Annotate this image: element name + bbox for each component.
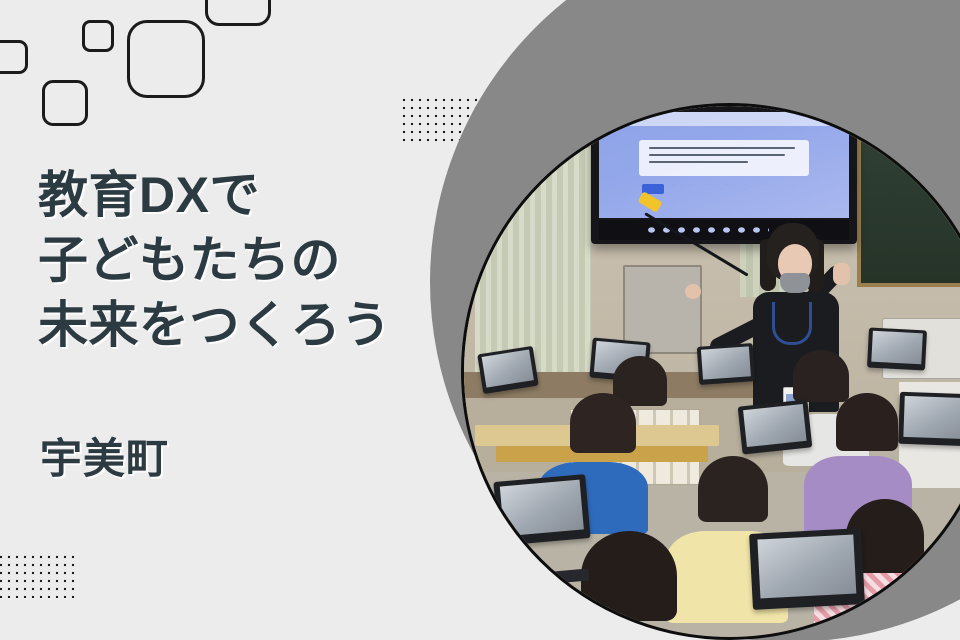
display-option-dots [664,178,784,185]
text-block: 教育DXで 子どもたちの 未来をつくろう 宇美町 [38,163,392,358]
classroom-photo [461,103,960,640]
student-head [793,350,849,402]
student-laptop [867,328,927,371]
foreground-laptop [493,474,590,546]
display-content-card [639,140,809,176]
teacher-left-hand [685,284,701,299]
student-laptop [899,391,960,446]
rounded-square-decoration [0,40,28,74]
student-head [570,393,636,453]
teacher-lanyard [772,302,812,345]
page-title: 教育DXで 子どもたちの 未来をつくろう [38,163,392,358]
student-laptop [738,400,813,455]
classroom-scene [464,106,960,637]
teacher-face-mask [780,273,810,293]
banner-root: 教育DXで 子どもたちの 未来をつくろう 宇美町 [0,0,960,640]
dot-grid-bottom [0,553,79,598]
student-head [581,531,677,621]
student-head [836,393,898,451]
rounded-square-decoration [82,20,114,52]
classroom-display-monitor [591,106,857,244]
rounded-square-decoration [42,80,88,126]
browser-toolbar [599,112,849,126]
subtitle: 宇美町 [40,425,169,486]
foreground-laptop [749,528,865,610]
rounded-square-decoration [205,0,271,26]
foreground-laptop-base [485,569,590,590]
student-head [698,456,768,522]
teacher-right-hand [833,263,850,285]
rounded-square-decoration [127,20,205,98]
display-screen [599,112,849,218]
blackboard [857,127,960,286]
student-laptop [696,343,755,385]
